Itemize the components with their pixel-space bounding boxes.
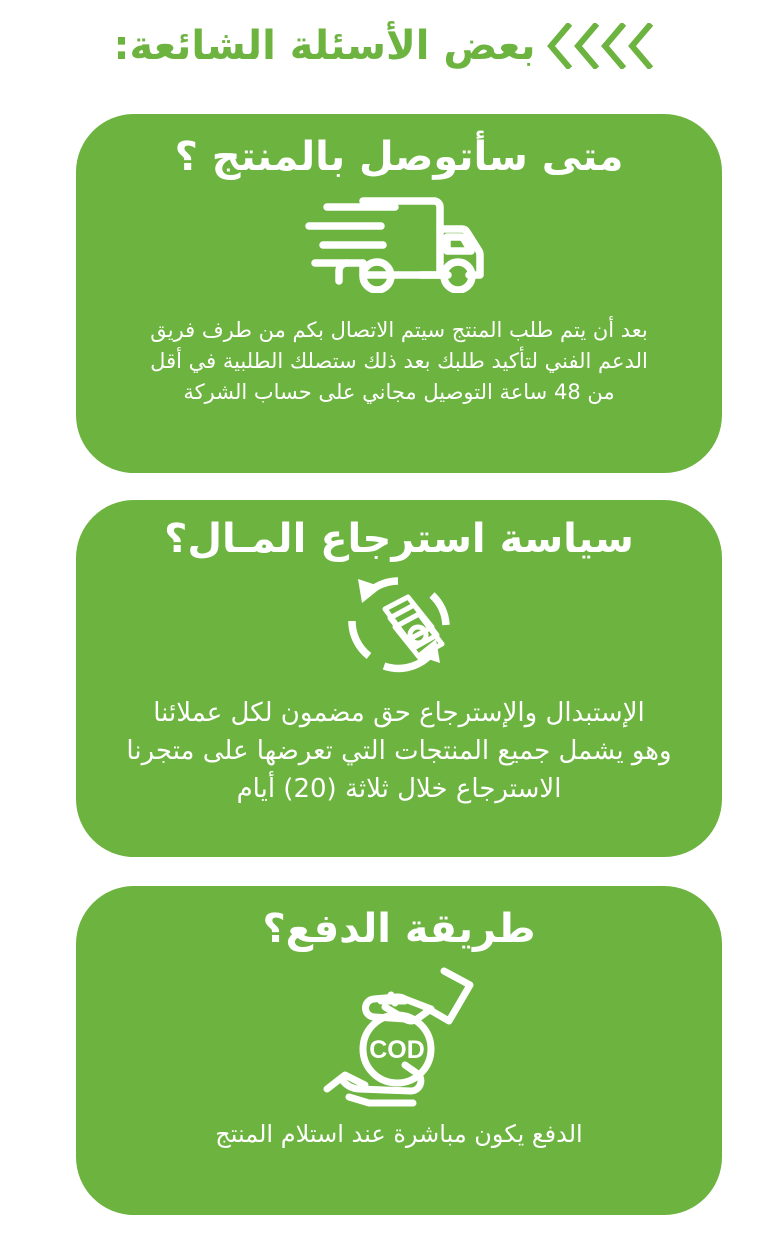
chevron-group — [546, 23, 653, 69]
chevron-left-icon — [600, 23, 626, 69]
faq-card-body: بعد أن يتم طلب المنتج سيتم الاتصال بكم م… — [76, 315, 722, 408]
cod-label: COD — [369, 1036, 425, 1064]
faq-body-line: الدفع يكون مباشرة عند استلام المنتج — [102, 1117, 696, 1151]
cash-on-delivery-hands-icon: COD — [313, 957, 485, 1107]
faq-body-line: وهو يشمل جميع المنتجات التي تعرضها على م… — [102, 733, 696, 771]
faq-card-body: الإستبدال والإسترجاع حق مضمون لكل عملائن… — [76, 695, 722, 808]
faq-card-title: سياسة استرجاع المـال؟ — [164, 518, 634, 561]
faq-body-line: الدعم الفني لتأكيد طلبك بعد ذلك ستصلك ال… — [102, 346, 696, 377]
money-refund-icon — [336, 565, 462, 677]
chevron-left-icon — [627, 23, 653, 69]
faq-card-refund[interactable]: سياسة استرجاع المـال؟ — [76, 500, 722, 857]
faq-body-line: بعد أن يتم طلب المنتج سيتم الاتصال بكم م… — [102, 315, 696, 346]
chevron-left-icon — [546, 23, 572, 69]
chevron-left-icon — [573, 23, 599, 69]
faq-body-line: الإستبدال والإسترجاع حق مضمون لكل عملائن… — [102, 695, 696, 733]
faq-card-title: متى سأتوصل بالمنتج ؟ — [175, 136, 624, 179]
faq-body-line: الاسترجاع خلال ثلاثة (20) أيام — [102, 771, 696, 809]
faq-card-title: طريقة الدفع؟ — [262, 908, 535, 951]
faq-header: بعض الأسئلة الشائعة: — [0, 0, 768, 92]
faq-body-line: من 48 ساعة التوصيل مجاني على حساب الشركة — [102, 377, 696, 408]
faq-infographic: بعض الأسئلة الشائعة: متى سأتوصل بالمنتج … — [0, 0, 768, 1260]
faq-card-payment[interactable]: طريقة الدفع؟ COD — [76, 886, 722, 1215]
faq-card-body: الدفع يكون مباشرة عند استلام المنتج — [76, 1117, 722, 1151]
delivery-truck-icon — [301, 193, 497, 293]
page-title: بعض الأسئلة الشائعة: — [113, 26, 535, 66]
faq-card-delivery[interactable]: متى سأتوصل بالمنتج ؟ — [76, 114, 722, 473]
